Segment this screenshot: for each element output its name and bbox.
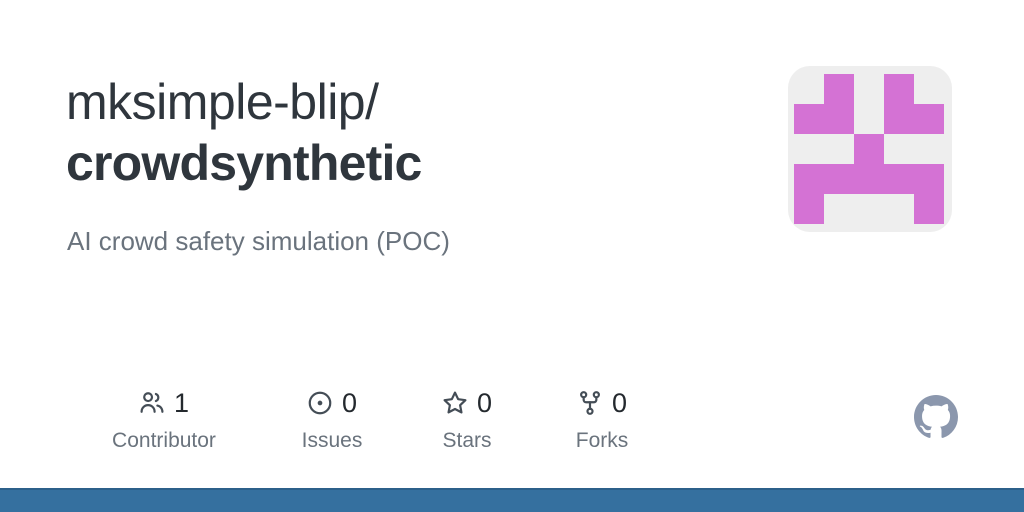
identicon-cell — [884, 194, 914, 224]
identicon-cell — [854, 134, 884, 164]
identicon-cell — [794, 74, 824, 104]
identicon-cell — [854, 194, 884, 224]
stat-forks-value: 0 — [612, 388, 627, 418]
identicon-cell — [794, 194, 824, 224]
stat-stars-label: Stars — [402, 429, 532, 453]
identicon-cell — [884, 164, 914, 194]
stat-contributors-value: 1 — [174, 388, 189, 418]
identicon-cell — [914, 74, 944, 104]
identicon-cell — [854, 74, 884, 104]
identicon-cell — [824, 194, 854, 224]
repository-name: crowdsynthetic — [66, 132, 726, 194]
people-icon — [139, 390, 165, 416]
star-icon — [442, 390, 468, 416]
stat-contributors-top: 1 — [66, 386, 262, 420]
identicon-cell — [794, 134, 824, 164]
stat-forks-top: 0 — [532, 386, 672, 420]
repository-description: AI crowd safety simulation (POC) — [67, 224, 757, 258]
stat-contributors-label: Contributor — [66, 429, 262, 453]
fork-icon — [577, 390, 603, 416]
bottom-accent-bar — [0, 488, 1024, 512]
owner-avatar — [788, 66, 952, 232]
stat-forks-label: Forks — [532, 429, 672, 453]
stat-issues-value: 0 — [342, 388, 357, 418]
identicon-cell — [884, 74, 914, 104]
stat-stars[interactable]: 0 Stars — [402, 386, 532, 456]
stat-issues-label: Issues — [262, 429, 402, 453]
identicon-cell — [914, 194, 944, 224]
identicon-grid — [794, 74, 944, 224]
identicon-cell — [824, 74, 854, 104]
identicon-cell — [794, 104, 824, 134]
identicon-cell — [884, 104, 914, 134]
identicon-cell — [854, 104, 884, 134]
github-mark-icon — [914, 395, 958, 439]
identicon-cell — [824, 164, 854, 194]
identicon-cell — [794, 164, 824, 194]
identicon-cell — [914, 164, 944, 194]
issue-opened-icon — [307, 390, 333, 416]
stat-contributors[interactable]: 1 Contributor — [66, 386, 262, 456]
identicon-cell — [824, 134, 854, 164]
identicon-cell — [914, 134, 944, 164]
stat-stars-value: 0 — [477, 388, 492, 418]
stat-issues[interactable]: 0 Issues — [262, 386, 402, 456]
repository-card: mksimple-blip/ crowdsynthetic AI crowd s… — [0, 0, 1024, 512]
page-title: mksimple-blip/ crowdsynthetic — [66, 72, 726, 194]
identicon-cell — [854, 164, 884, 194]
repository-owner: mksimple-blip/ — [66, 72, 726, 132]
identicon-cell — [884, 134, 914, 164]
stat-stars-top: 0 — [402, 386, 532, 420]
identicon-cell — [824, 104, 854, 134]
stat-issues-top: 0 — [262, 386, 402, 420]
stat-forks[interactable]: 0 Forks — [532, 386, 672, 456]
identicon-cell — [914, 104, 944, 134]
